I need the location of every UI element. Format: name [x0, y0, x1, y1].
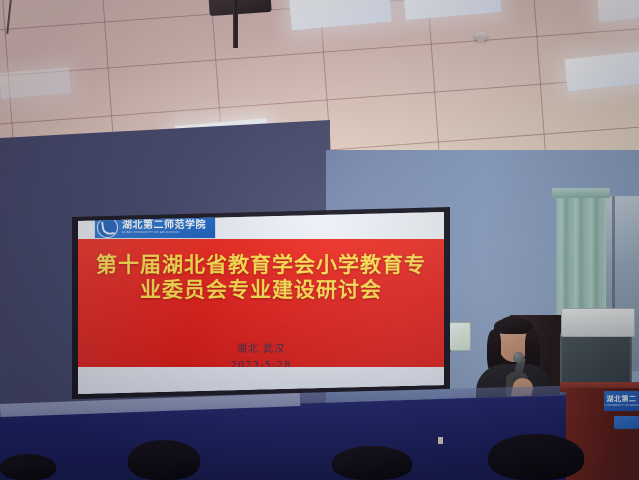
- projector-mount-rod: [233, 0, 238, 48]
- audience-head: [0, 454, 56, 480]
- audience-marker: [438, 437, 443, 444]
- podium-sign: 湖北第二 HUBEI UNIVERSITY OF EDUCATION: [604, 391, 639, 411]
- wall-air-conditioner: [561, 308, 635, 337]
- slide-title-line-1: 第十届湖北省教育学会小学教育专: [78, 252, 444, 277]
- slide-location: 湖北 武汉: [78, 342, 444, 358]
- podium-sign-secondary: [614, 416, 639, 429]
- audience-head: [128, 440, 200, 480]
- microphone-head-icon: [513, 352, 524, 363]
- conference-room-photo: 湖北第二师范学院 HUBEI UNIVERSITY OF EDUCATION 第…: [0, 0, 639, 480]
- smoke-detector-icon: [474, 32, 488, 41]
- audience-head: [488, 434, 584, 480]
- curtain-rail: [552, 188, 610, 198]
- slide-title-line-2: 业委员会专业建设研讨会: [78, 277, 444, 302]
- slide-title: 第十届湖北省教育学会小学教育专 业委员会专业建设研讨会: [78, 252, 444, 302]
- presentation-slide: 湖北第二师范学院 HUBEI UNIVERSITY OF EDUCATION 第…: [78, 212, 444, 394]
- projection-screen: 湖北第二师范学院 HUBEI UNIVERSITY OF EDUCATION 第…: [78, 212, 444, 394]
- podium-sign-cn: 湖北第二: [607, 396, 637, 403]
- ceiling-light-panel: [597, 0, 639, 22]
- university-name-en: HUBEI UNIVERSITY OF EDUCATION: [122, 231, 206, 234]
- audience-head: [332, 446, 412, 480]
- podium-sign-en: HUBEI UNIVERSITY OF EDUCATION: [604, 404, 639, 407]
